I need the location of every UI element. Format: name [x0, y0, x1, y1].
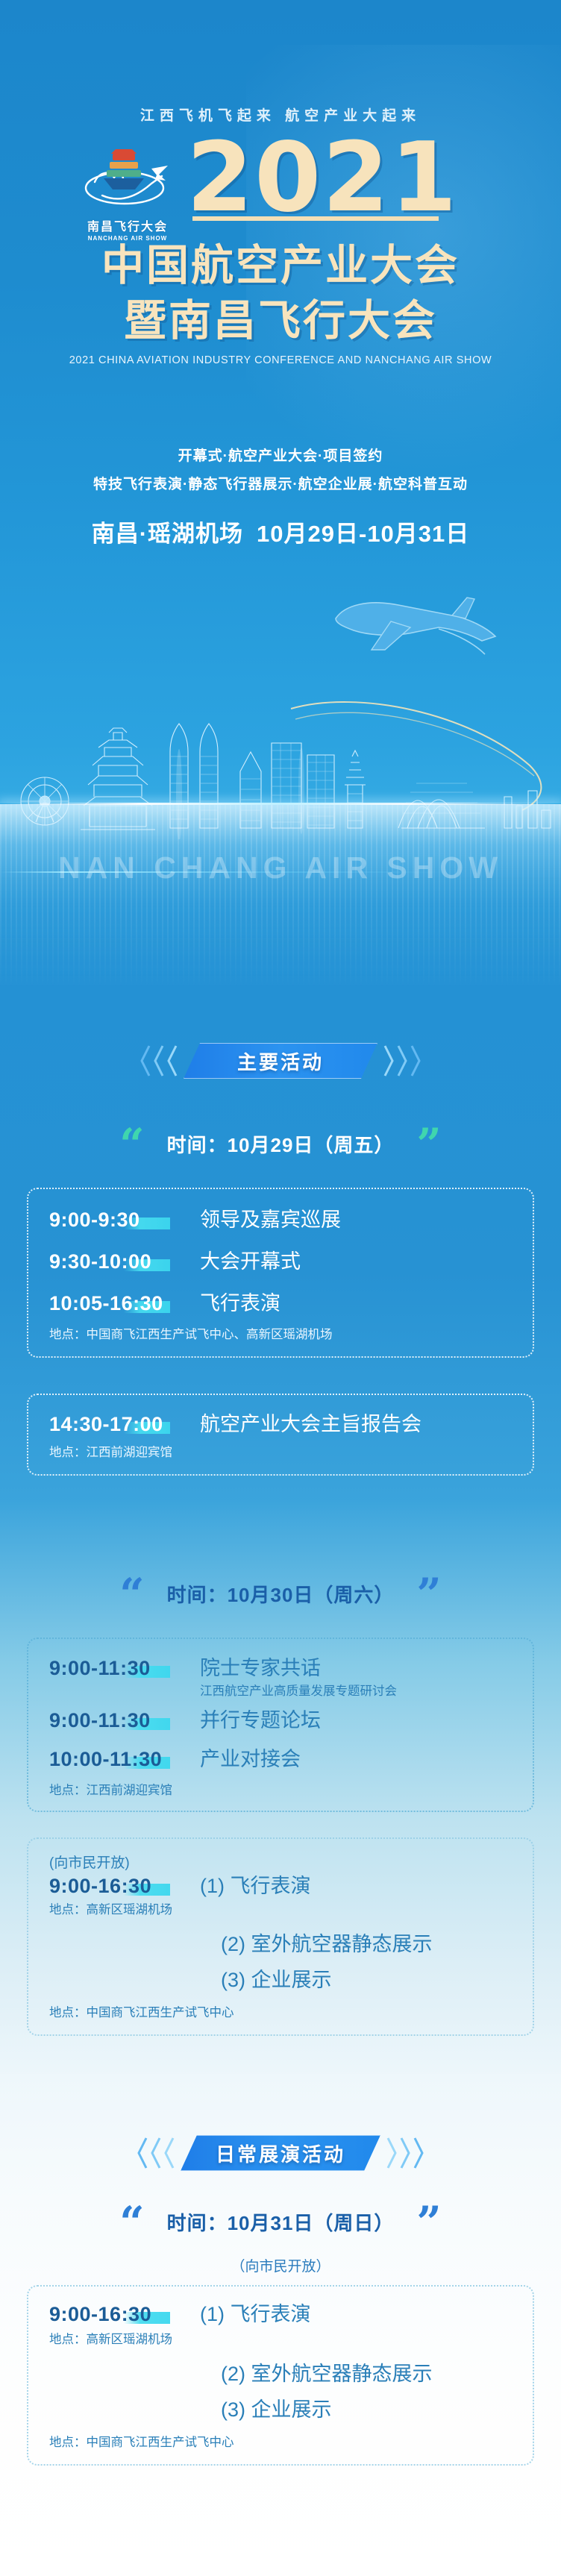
quote-open-icon: “ [119, 2209, 144, 2236]
chevron-right-icon [397, 1045, 408, 1077]
schedule-event: 并行专题论坛 [200, 1708, 321, 1733]
chevron-right-icon [413, 2137, 424, 2169]
date-heading-oct29: “ 时间：10月29日（周五） ” [0, 1130, 561, 1158]
venue-label: 南昌·瑶湖机场 [92, 521, 243, 547]
banner-plate: 主要活动 [184, 1043, 377, 1079]
airplane-icon [327, 586, 506, 668]
schedule-row: 9:00-16:30 (1) 飞行表演 [28, 2301, 533, 2327]
schedule-event: 领导及嘉宾巡展 [200, 1207, 341, 1232]
quote-close-icon: ” [416, 1131, 441, 1158]
schedule-row: 9:00-11:30 并行专题论坛 [28, 1708, 533, 1733]
schedule-time: 14:30-17:00 [28, 1411, 200, 1437]
schedule-time: 9:00-11:30 [28, 1655, 200, 1681]
schedule-event: 产业对接会 [200, 1746, 301, 1772]
event-logo: 南昌飞行大会 NANCHANG AIR SHOW [72, 143, 184, 242]
chevron-right-icon [386, 2137, 398, 2169]
schedule-row: 10:00-11:30 产业对接会 [28, 1746, 533, 1772]
date-label: 时间：10月29日（周五） [167, 1130, 395, 1158]
chevron-right-icon [383, 1045, 395, 1077]
schedule-time: 9:30-10:00 [28, 1249, 200, 1274]
schedule-location-1: 地点：高新区瑶湖机场 [28, 2331, 533, 2348]
schedule-location-2: 地点：中国商飞江西生产试飞中心 [28, 2005, 533, 2021]
banner-label: 主要活动 [237, 1047, 324, 1075]
schedule-item: (2) 室外航空器静态展示 [28, 2361, 533, 2387]
page-title-line2: 暨南昌飞行大会 [0, 298, 561, 343]
date-label: 时间：10月31日（周日） [167, 2208, 395, 2236]
chevron-left-group [137, 2137, 175, 2169]
page-title-english: 2021 CHINA AVIATION INDUSTRY CONFERENCE … [0, 354, 561, 366]
chevron-left-icon [153, 1045, 164, 1077]
page-title-line1: 中国航空产业大会 [0, 243, 561, 288]
chevron-left-icon [150, 2137, 161, 2169]
schedule-row: 9:30-10:00 大会开幕式 [28, 1249, 533, 1274]
chevron-left-group [140, 1045, 178, 1077]
logo-chinese-name: 南昌飞行大会 [72, 216, 184, 234]
schedule-location-2: 地点：中国商飞江西生产试飞中心 [28, 2434, 533, 2451]
water-reflection [0, 804, 561, 991]
quote-close-icon: ” [416, 2209, 441, 2236]
schedule-row: 10:05-16:30 飞行表演 [28, 1291, 533, 1316]
venue-and-dates: 南昌·瑶湖机场10月29日-10月31日 [0, 515, 561, 548]
schedule-item: (1) 飞行表演 [200, 2301, 311, 2327]
schedule-item: (2) 室外航空器静态展示 [28, 1931, 533, 1957]
chevron-left-icon [166, 1045, 178, 1077]
date-heading-oct30: “ 时间：10月30日（周六） ” [0, 1580, 561, 1608]
page-tagline: 江西飞机飞起来 航空产业大起来 [0, 104, 561, 125]
schedule-event: 航空产业大会主旨报告会 [200, 1411, 421, 1437]
schedule-row: 9:00-16:30 (1) 飞行表演 [28, 1873, 533, 1899]
banner-plate: 日常展演活动 [181, 2135, 380, 2171]
schedule-time: 9:00-16:30 [28, 2301, 200, 2327]
public-open-note: (向市民开放) [28, 1854, 533, 1873]
schedule-event: 院士专家共话 [200, 1655, 397, 1681]
schedule-card-oct30-public[interactable]: (向市民开放) 9:00-16:30 (1) 飞行表演 地点：高新区瑶湖机场 (… [27, 1837, 534, 2036]
nanchang-air-show-logo-icon [80, 143, 175, 215]
horizon-glow-line [0, 803, 561, 805]
schedule-time: 9:00-11:30 [28, 1708, 200, 1733]
schedule-location: 地点：中国商飞江西生产试飞中心、高新区瑶湖机场 [28, 1326, 533, 1343]
schedule-location: 地点：江西前湖迎宾馆 [28, 1782, 533, 1799]
section-banner-daily-shows: 日常展演活动 [0, 2135, 561, 2171]
schedule-location: 地点：江西前湖迎宾馆 [28, 1444, 533, 1461]
date-label: 时间：10月30日（周六） [167, 1580, 395, 1608]
schedule-time: 10:00-11:30 [28, 1746, 200, 1772]
schedule-card-oct29-afternoon[interactable]: 14:30-17:00 航空产业大会主旨报告会 地点：江西前湖迎宾馆 [27, 1394, 534, 1476]
schedule-card-oct30-forum[interactable]: 9:00-11:30 院士专家共话 江西航空产业高质量发展专题研讨会 9:00-… [27, 1638, 534, 1812]
schedule-location-1: 地点：高新区瑶湖机场 [28, 1902, 533, 1918]
year-underline [192, 216, 439, 221]
chevron-left-icon [137, 2137, 148, 2169]
public-open-note-oct31: （向市民开放） [0, 2255, 561, 2275]
chevron-right-group [386, 2137, 424, 2169]
date-heading-oct31: “ 时间：10月31日（周日） ” [0, 2208, 561, 2236]
quote-close-icon: ” [416, 1581, 441, 1608]
schedule-event-block: 院士专家共话 江西航空产业高质量发展专题研讨会 [200, 1655, 397, 1700]
subtitle-line1: 开幕式·航空产业大会·项目签约 [0, 445, 561, 465]
schedule-row: 9:00-11:30 院士专家共话 江西航空产业高质量发展专题研讨会 [28, 1655, 533, 1700]
year-display: 2021 [187, 134, 537, 222]
banner-label: 日常展演活动 [216, 2140, 345, 2167]
schedule-event: 飞行表演 [200, 1291, 280, 1316]
schedule-time: 9:00-9:30 [28, 1207, 200, 1232]
chevron-left-icon [140, 1045, 151, 1077]
schedule-card-oct29-morning[interactable]: 9:00-9:30 领导及嘉宾巡展 9:30-10:00 大会开幕式 10:05… [27, 1188, 534, 1358]
logo-english-name: NANCHANG AIR SHOW [72, 235, 184, 242]
quote-open-icon: “ [119, 1581, 144, 1608]
chevron-left-icon [163, 2137, 175, 2169]
schedule-item: (3) 企业展示 [28, 2397, 533, 2422]
subtitle-line2: 特技飞行表演·静态飞行器展示·航空企业展·航空科普互动 [0, 473, 561, 493]
schedule-row: 9:00-9:30 领导及嘉宾巡展 [28, 1207, 533, 1232]
section-banner-main-activities: 主要活动 [0, 1043, 561, 1079]
schedule-event-sub: 江西航空产业高质量发展专题研讨会 [200, 1682, 397, 1700]
ghost-watermark-text: NAN CHANG AIR SHOW [0, 850, 561, 886]
chevron-right-group [383, 1045, 421, 1077]
chevron-right-icon [410, 1045, 421, 1077]
schedule-time: 10:05-16:30 [28, 1291, 200, 1316]
schedule-item: (1) 飞行表演 [200, 1873, 311, 1899]
schedule-card-oct31-public[interactable]: 9:00-16:30 (1) 飞行表演 地点：高新区瑶湖机场 (2) 室外航空器… [27, 2285, 534, 2466]
schedule-row: 14:30-17:00 航空产业大会主旨报告会 [28, 1411, 533, 1437]
quote-open-icon: “ [119, 1131, 144, 1158]
chevron-right-icon [400, 2137, 411, 2169]
schedule-item: (3) 企业展示 [28, 1967, 533, 1993]
schedule-event: 大会开幕式 [200, 1249, 301, 1274]
dates-label: 10月29日-10月31日 [257, 521, 469, 547]
schedule-time: 9:00-16:30 [28, 1873, 200, 1899]
